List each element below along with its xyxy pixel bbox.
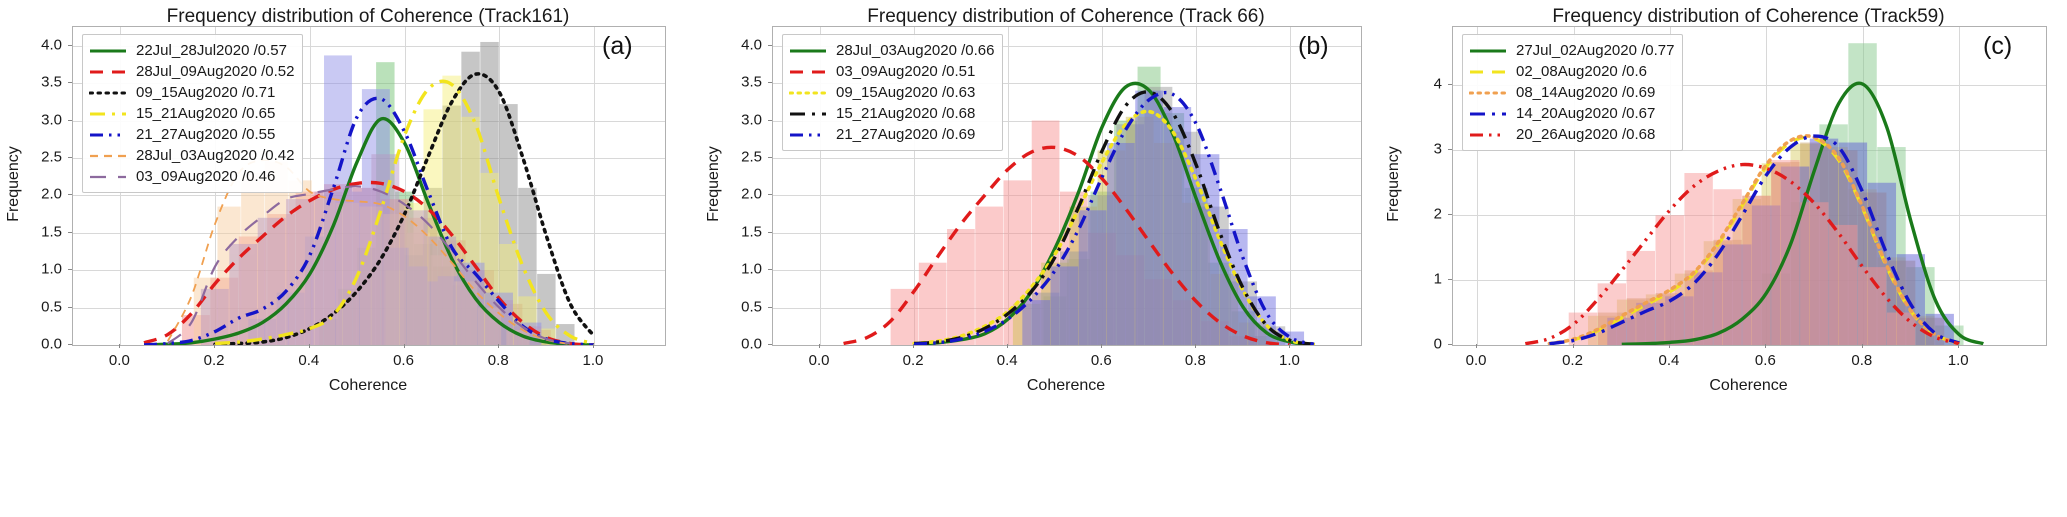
y-axis-label: Frequency <box>705 124 723 244</box>
x-tick-label: 0.0 <box>109 352 130 369</box>
grid-line-horizontal <box>73 233 665 234</box>
grid-line-horizontal <box>73 270 665 271</box>
legend-line-icon <box>89 65 127 79</box>
kde-curves <box>73 27 665 345</box>
histogram-bar <box>229 244 257 345</box>
histogram-bar <box>1135 91 1163 345</box>
histogram-bar <box>480 42 498 345</box>
legend-item[interactable]: 03_09Aug2020 /0.46 <box>89 166 294 187</box>
y-tick-label: 2.5 <box>10 148 62 165</box>
legend-line-icon <box>1469 44 1507 58</box>
histogram-series <box>194 162 530 345</box>
grid-line-vertical <box>499 27 500 345</box>
histogram-bar <box>312 199 335 345</box>
panel-title: Frequency distribution of Coherence (Tra… <box>1392 6 2067 28</box>
x-tick-label: 0.2 <box>1562 352 1583 369</box>
histogram-bar <box>371 154 399 345</box>
histogram-bar <box>1790 202 1818 345</box>
kde-curve <box>168 160 571 344</box>
histogram-bar <box>1060 251 1088 345</box>
x-tick-label: 0.0 <box>1466 352 1487 369</box>
histogram-bar <box>1819 147 1847 345</box>
x-axis-label: Coherence <box>772 377 1360 395</box>
histogram-bar <box>383 214 406 345</box>
y-tick-mark <box>68 120 72 121</box>
grid-line-vertical <box>405 27 406 345</box>
histogram-bar <box>1646 294 1674 345</box>
x-tick-mark <box>119 344 120 348</box>
y-tick-mark <box>1448 214 1452 215</box>
histogram-bar <box>1877 257 1905 345</box>
x-tick-mark <box>1101 344 1102 348</box>
grid-line-horizontal <box>773 121 1361 122</box>
histogram-bar <box>338 289 356 345</box>
legend-label: 08_14Aug2020 /0.69 <box>1516 84 1655 101</box>
legend-label: 21_27Aug2020 /0.69 <box>836 126 975 143</box>
y-tick-mark <box>768 269 772 270</box>
histogram-bar <box>1771 160 1799 345</box>
legend-item[interactable]: 09_15Aug2020 /0.71 <box>89 82 294 103</box>
grid-line-vertical <box>1670 27 1671 345</box>
histogram-bar <box>1051 266 1079 345</box>
histogram-series <box>1598 143 1945 345</box>
panel-letter: (b) <box>1298 32 1329 61</box>
legend-label: 20_26Aug2020 /0.68 <box>1516 126 1655 143</box>
histogram-bar <box>343 192 371 345</box>
plot-area <box>72 26 666 346</box>
histogram-bar <box>518 296 536 345</box>
histogram-bar <box>1041 263 1069 345</box>
y-tick-mark <box>768 82 772 83</box>
grid-line-horizontal <box>773 158 1361 159</box>
histogram-bar <box>1098 150 1126 345</box>
histogram-bar <box>336 203 359 345</box>
grid-line-horizontal <box>73 308 665 309</box>
x-tick-mark <box>819 344 820 348</box>
chart-panel-b: Frequency distribution of Coherence (Tra… <box>0 0 2067 517</box>
grid-line-vertical <box>1008 27 1009 345</box>
grid-line-horizontal <box>1453 345 2046 346</box>
legend-item[interactable]: 22Jul_28Jul2020 /0.57 <box>89 40 294 61</box>
histogram-bar <box>975 207 1003 345</box>
histogram-series <box>182 184 551 345</box>
x-tick-label: 0.8 <box>488 352 509 369</box>
histogram-bar <box>1210 274 1238 345</box>
y-tick-label: 0.5 <box>10 298 62 315</box>
histogram-bar <box>182 315 210 345</box>
histogram-bar <box>1229 336 1257 345</box>
histogram-bar <box>1182 203 1210 345</box>
histogram-bar <box>485 300 513 345</box>
grid-line-horizontal <box>773 195 1361 196</box>
legend-item[interactable]: 20_26Aug2020 /0.68 <box>1469 124 1674 145</box>
histogram-bar <box>1022 300 1050 345</box>
grid-line-vertical <box>1959 27 1960 345</box>
y-tick-mark <box>768 45 772 46</box>
histogram-bar <box>1588 316 1616 345</box>
x-tick-mark <box>309 344 310 348</box>
histogram-bar <box>1088 233 1116 345</box>
histogram-bar <box>423 109 441 345</box>
x-tick-mark <box>1007 344 1008 348</box>
histogram-bar <box>267 214 295 345</box>
histogram-bar <box>376 62 394 345</box>
histogram-bar <box>357 248 375 345</box>
x-axis-label: Coherence <box>72 377 664 395</box>
histogram-bar <box>1713 189 1741 345</box>
grid-line-horizontal <box>773 233 1361 234</box>
x-tick-mark <box>1289 344 1290 348</box>
x-tick-mark <box>404 344 405 348</box>
histogram-bar <box>431 255 454 345</box>
legend-label: 02_08Aug2020 /0.6 <box>1516 63 1647 80</box>
legend-item[interactable]: 09_15Aug2020 /0.63 <box>789 82 994 103</box>
histogram-bar <box>1088 195 1116 345</box>
kde-curve <box>1622 83 1984 344</box>
histogram-bar <box>1887 313 1915 345</box>
y-tick-mark <box>68 157 72 158</box>
histogram-bar <box>1925 314 1953 345</box>
grid-line-horizontal <box>1453 280 2046 281</box>
legend-label: 21_27Aug2020 /0.55 <box>136 126 275 143</box>
kde-curve <box>168 186 571 343</box>
legend-line-icon <box>89 149 127 163</box>
histogram-bar <box>1762 163 1790 345</box>
grid-line-horizontal <box>1453 215 2046 216</box>
legend-label: 28Jul_03Aug2020 /0.66 <box>836 42 994 59</box>
histogram-bar <box>1887 261 1915 345</box>
histogram-bar <box>319 319 337 345</box>
histogram-bar <box>241 173 264 345</box>
histogram-series <box>891 121 1257 345</box>
x-tick-mark <box>1573 344 1574 348</box>
legend-item[interactable]: 27Jul_02Aug2020 /0.77 <box>1469 40 1674 61</box>
histogram-bar <box>1598 283 1626 345</box>
histogram-bar <box>1733 199 1761 345</box>
histogram-bar <box>258 218 286 345</box>
histogram-bar <box>1675 274 1703 345</box>
histogram-bar <box>1043 296 1066 345</box>
histogram-bar <box>386 270 404 345</box>
x-tick-mark <box>498 344 499 348</box>
panel-title: Frequency distribution of Coherence (Tra… <box>712 6 1420 28</box>
histogram-bar <box>1781 167 1809 345</box>
histogram-bar <box>1173 132 1201 345</box>
histogram-bar <box>296 192 324 345</box>
legend-item[interactable]: 28Jul_03Aug2020 /0.66 <box>789 40 994 61</box>
y-tick-mark <box>68 82 72 83</box>
histogram-bar <box>1069 207 1097 345</box>
histogram-bar <box>438 240 466 345</box>
histogram-bar <box>1116 124 1144 345</box>
histogram-bar <box>194 278 217 345</box>
y-tick-label: 2.5 <box>710 148 762 165</box>
x-tick-label: 0.8 <box>1185 352 1206 369</box>
histogram-bar <box>1032 293 1060 345</box>
legend-line-icon <box>89 44 127 58</box>
legend-label: 22Jul_28Jul2020 /0.57 <box>136 42 287 59</box>
histogram-bar <box>1897 254 1925 345</box>
x-tick-mark <box>593 344 594 348</box>
histogram-bar <box>277 293 305 345</box>
histogram-bar <box>428 237 456 345</box>
histogram-bar <box>1810 139 1838 345</box>
histogram-bar <box>419 281 447 345</box>
histogram-bar <box>1161 113 1184 345</box>
legend-item[interactable]: 21_27Aug2020 /0.69 <box>789 124 994 145</box>
histogram-bar <box>442 106 460 345</box>
histogram-bar <box>1255 336 1278 345</box>
legend-item[interactable]: 02_08Aug2020 /0.6 <box>1469 61 1674 82</box>
legend-label: 28Jul_03Aug2020 /0.42 <box>136 147 294 164</box>
y-tick-label: 0 <box>1390 336 1442 353</box>
histogram-series <box>405 42 575 345</box>
histogram-bar <box>400 266 428 345</box>
histogram-bar <box>513 323 541 345</box>
histogram-series <box>1588 144 1935 345</box>
histogram-bar <box>1145 279 1173 345</box>
kde-curve <box>215 74 594 344</box>
histogram-bar <box>1229 281 1257 345</box>
histogram-bar <box>1742 196 1770 345</box>
kde-curves <box>1453 27 2046 345</box>
histogram-bar <box>1627 298 1655 345</box>
legend-item[interactable]: 21_27Aug2020 /0.55 <box>89 124 294 145</box>
legend-label: 15_21Aug2020 /0.65 <box>136 105 275 122</box>
histogram-bar <box>478 308 501 345</box>
y-tick-label: 1.5 <box>10 223 62 240</box>
y-tick-mark <box>68 307 72 308</box>
histogram-bar <box>1154 143 1182 345</box>
histogram-bar <box>461 52 479 345</box>
histogram-bar <box>405 255 423 345</box>
grid-line-vertical <box>1290 27 1291 345</box>
grid-line-vertical <box>1574 27 1575 345</box>
histogram-bar <box>1684 173 1712 345</box>
grid-line-vertical <box>215 27 216 345</box>
histogram-bar <box>1192 154 1220 345</box>
panel-letter: (c) <box>1983 32 2012 61</box>
kde-curve <box>1549 136 1959 344</box>
histogram-bar <box>1742 196 1770 345</box>
y-axis-label: Frequency <box>5 124 23 244</box>
y-tick-label: 0.5 <box>710 298 762 315</box>
histogram-bar <box>499 104 517 345</box>
x-tick-mark <box>1862 344 1863 348</box>
kde-curve <box>914 83 1314 345</box>
kde-curves <box>773 27 1361 345</box>
y-tick-label: 3.5 <box>10 74 62 91</box>
x-tick-mark <box>913 344 914 348</box>
y-tick-label: 1.0 <box>710 261 762 278</box>
histogram-bar <box>315 192 343 345</box>
histogram-bar <box>1839 143 1867 345</box>
legend-item[interactable]: 03_09Aug2020 /0.51 <box>789 61 994 82</box>
grid-line-vertical <box>820 27 821 345</box>
y-tick-mark <box>68 344 72 345</box>
x-tick-label: 0.8 <box>1851 352 1872 369</box>
histogram-bar <box>210 278 238 345</box>
kde-curve <box>844 147 1291 345</box>
kde-curve <box>144 119 594 345</box>
legend-item[interactable]: 14_20Aug2020 /0.67 <box>1469 103 1674 124</box>
y-tick-mark <box>1448 149 1452 150</box>
legend-item[interactable]: 28Jul_09Aug2020 /0.52 <box>89 61 294 82</box>
grid-line-horizontal <box>73 195 665 196</box>
histogram-bar <box>1091 192 1114 345</box>
x-tick-label: 1.0 <box>583 352 604 369</box>
histogram-bar <box>217 207 240 345</box>
y-tick-mark <box>768 120 772 121</box>
histogram-bar <box>1067 259 1090 345</box>
histogram-bar <box>518 188 536 345</box>
histogram-bar <box>1655 293 1683 345</box>
histogram-bar <box>1877 147 1905 345</box>
grid-line-horizontal <box>73 83 665 84</box>
histogram-bar <box>1163 107 1191 345</box>
histogram-bar <box>1684 270 1712 345</box>
y-tick-label: 0.0 <box>10 336 62 353</box>
histogram-bar <box>1145 87 1173 345</box>
histogram-bar <box>1762 274 1790 345</box>
histogram-bar <box>438 276 466 345</box>
grid-line-horizontal <box>1453 85 2046 86</box>
y-tick-mark <box>768 157 772 158</box>
y-tick-mark <box>68 45 72 46</box>
histogram-bar <box>461 117 479 345</box>
y-tick-label: 2 <box>1390 206 1442 223</box>
histogram-bar <box>528 341 546 345</box>
grid-line-horizontal <box>773 308 1361 309</box>
histogram-bar <box>1916 318 1944 345</box>
grid-line-horizontal <box>773 46 1361 47</box>
histogram-bar <box>400 210 428 345</box>
legend-line-icon <box>1469 86 1507 100</box>
histogram-bar <box>454 281 477 345</box>
histogram-bar <box>485 293 513 345</box>
histogram-bar <box>1276 332 1304 345</box>
grid-line-horizontal <box>773 270 1361 271</box>
histogram-bar <box>1713 240 1741 345</box>
histogram-bar <box>286 199 314 345</box>
grid-line-horizontal <box>73 345 665 346</box>
legend-item[interactable]: 28Jul_03Aug2020 /0.42 <box>89 145 294 166</box>
histogram-bar <box>352 188 380 345</box>
histogram-bar <box>1829 150 1857 345</box>
histogram-bar <box>1800 143 1828 345</box>
y-tick-mark <box>68 194 72 195</box>
legend-label: 14_20Aug2020 /0.67 <box>1516 105 1655 122</box>
grid-line-vertical <box>914 27 915 345</box>
y-tick-label: 1.0 <box>10 261 62 278</box>
histogram-bar <box>947 229 975 345</box>
y-tick-mark <box>1448 344 1452 345</box>
histogram-bar <box>381 199 409 345</box>
histogram-bar <box>1848 189 1876 345</box>
histogram-bar <box>343 188 371 345</box>
histogram-bar <box>1935 326 1963 345</box>
histogram-bar <box>1079 210 1107 345</box>
x-tick-mark <box>1476 344 1477 348</box>
grid-line-vertical <box>1863 27 1864 345</box>
legend-item[interactable]: 15_21Aug2020 /0.68 <box>789 103 994 124</box>
grid-line-vertical <box>594 27 595 345</box>
histogram-bars <box>773 27 1361 345</box>
histogram-bar <box>288 180 311 345</box>
histogram-series <box>1022 91 1304 345</box>
histogram-series <box>1762 43 1964 345</box>
histogram-bar <box>1201 207 1229 345</box>
chart-panel-a: Frequency distribution of Coherence (Tra… <box>0 0 2067 517</box>
histogram-bar <box>1116 255 1144 345</box>
x-axis-label: Coherence <box>1452 377 2045 395</box>
histogram-bar <box>1248 296 1276 345</box>
histogram-series <box>248 55 541 345</box>
legend-line-icon <box>89 128 127 142</box>
histogram-bar <box>1655 215 1683 345</box>
histogram-bar <box>537 274 555 345</box>
y-tick-mark <box>768 232 772 233</box>
x-tick-mark <box>1195 344 1196 348</box>
legend-line-icon <box>89 170 127 184</box>
legend-line-icon <box>1469 65 1507 79</box>
histogram-bar <box>457 270 485 345</box>
y-tick-label: 2.0 <box>10 186 62 203</box>
x-tick-label: 0.4 <box>298 352 319 369</box>
histogram-bar <box>919 263 947 345</box>
histogram-bar <box>1636 303 1664 345</box>
histogram-bar <box>1232 311 1255 345</box>
histogram-bar <box>248 319 276 345</box>
figure-root: Frequency distribution of Coherence (Tra… <box>0 0 2067 517</box>
kde-curve <box>1549 136 1959 344</box>
x-tick-mark <box>214 344 215 348</box>
kde-curve <box>914 93 1314 345</box>
legend-line-icon <box>89 86 127 100</box>
kde-curve <box>914 111 1314 344</box>
grid-line-vertical <box>310 27 311 345</box>
histogram-bar <box>1694 272 1722 345</box>
kde-curve <box>914 92 1314 344</box>
histogram-bar <box>490 323 508 345</box>
histogram-bar <box>1627 251 1655 345</box>
x-tick-label: 0.4 <box>1659 352 1680 369</box>
chart-legend: 22Jul_28Jul2020 /0.5728Jul_09Aug2020 /0.… <box>82 34 303 193</box>
histogram-bar <box>362 89 390 345</box>
legend-item[interactable]: 15_21Aug2020 /0.65 <box>89 103 294 124</box>
histogram-bar <box>1201 321 1229 345</box>
histogram-bar <box>1220 229 1248 345</box>
y-tick-mark <box>768 344 772 345</box>
histogram-bars <box>1453 27 2046 345</box>
histogram-bar <box>537 329 555 345</box>
y-tick-label: 3 <box>1390 141 1442 158</box>
y-tick-label: 3.5 <box>710 74 762 91</box>
grid-line-vertical <box>1766 27 1767 345</box>
legend-line-icon <box>789 128 827 142</box>
histogram-bar <box>1003 180 1031 345</box>
histogram-bar <box>1208 263 1231 345</box>
legend-line-icon <box>1469 107 1507 121</box>
grid-line-vertical <box>1477 27 1478 345</box>
histogram-bar <box>265 162 288 345</box>
histogram-bar <box>1906 267 1934 345</box>
kde-curve <box>144 182 594 345</box>
x-tick-mark <box>1765 344 1766 348</box>
legend-line-icon <box>789 44 827 58</box>
histogram-bar <box>1239 323 1267 345</box>
legend-item[interactable]: 08_14Aug2020 /0.69 <box>1469 82 1674 103</box>
